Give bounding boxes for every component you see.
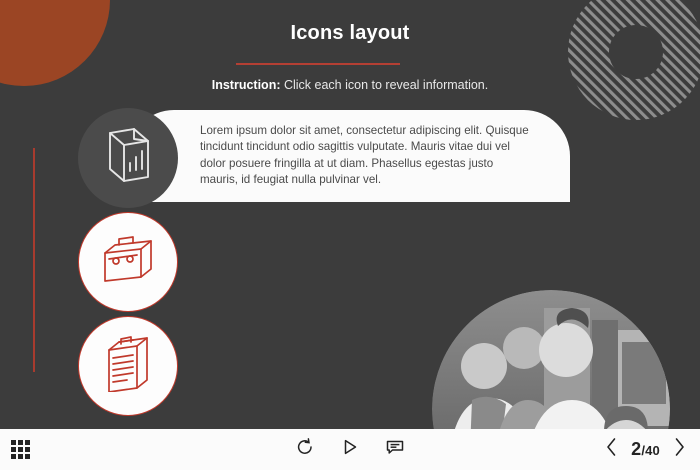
current-page: 2: [631, 439, 641, 459]
page-navigation: 2/40: [605, 429, 686, 470]
briefcase-icon: [101, 235, 155, 290]
chevron-left-icon[interactable]: [605, 437, 618, 462]
page-title: Icons layout: [0, 22, 700, 45]
playback-controls: [0, 429, 700, 470]
clipboard-icon: [105, 336, 151, 397]
page-indicator: 2/40: [631, 439, 660, 460]
decorative-vertical-rule: [33, 148, 35, 372]
instruction-label: Instruction:: [212, 78, 281, 92]
instruction-body: Click each icon to reveal information.: [281, 78, 489, 92]
icon-button-clipboard[interactable]: [78, 316, 178, 416]
content-body-text: Lorem ipsum dolor sit amet, consectetur …: [200, 123, 530, 189]
total-pages: 40: [645, 443, 660, 458]
document-chart-icon: [102, 127, 154, 190]
title-underline: [236, 63, 400, 65]
comment-icon[interactable]: [386, 438, 404, 461]
icon-button-document-chart[interactable]: [78, 108, 178, 208]
bottom-toolbar: 2/40: [0, 429, 700, 470]
chevron-right-icon[interactable]: [673, 437, 686, 462]
instruction-text: Instruction: Click each icon to reveal i…: [0, 78, 700, 92]
icon-button-briefcase[interactable]: [78, 212, 178, 312]
decorative-striped-ring: [568, 0, 700, 128]
play-icon[interactable]: [341, 438, 359, 461]
slide-canvas: Icons layout Instruction: Click each ico…: [0, 0, 700, 470]
replay-icon[interactable]: [296, 438, 314, 461]
